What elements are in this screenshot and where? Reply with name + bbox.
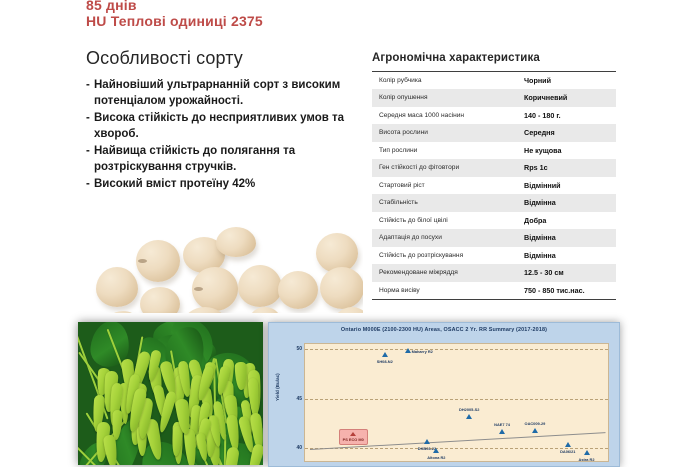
soybean-pods-image — [78, 322, 263, 465]
chart-data-point — [565, 442, 571, 447]
list-item: - Найвища стійкість до полягання та розт… — [86, 144, 366, 175]
table-cell-value: Добра — [524, 212, 616, 230]
chart-point-label: Altona R2 — [427, 455, 445, 460]
chart-point-label: Astra R2 — [579, 457, 595, 462]
table-row: Середня маса 1000 насінин140 - 180 г. — [372, 107, 616, 125]
seed-hilum — [194, 287, 203, 291]
chart-data-point — [382, 352, 388, 357]
highlight-label: PS ECO M0 — [343, 437, 364, 442]
chart-gridline — [305, 399, 608, 400]
table-row: Колір рубчикаЧорний — [372, 72, 616, 90]
chart-data-point — [584, 450, 590, 455]
list-item-text: Високий вміст протеїну 42% — [94, 177, 366, 193]
table-cell-name: Норма висіву — [372, 282, 524, 300]
highlight-triangle-icon — [350, 432, 356, 436]
soybean-seed — [216, 227, 256, 257]
agronomic-table-section: Агрономічна характеристика Колір рубчика… — [372, 52, 616, 300]
list-item-text: Висока стійкість до несприятливих умов т… — [94, 111, 366, 142]
chart-title: Ontario M000E (2100-2300 HU) Areas, OSAC… — [269, 327, 619, 333]
header-block: 85 днів HU Теплові одиниці 2375 — [86, 0, 506, 29]
soybean-seed — [96, 267, 138, 307]
table-row: Колір опушенняКоричневий — [372, 89, 616, 107]
chart-point-label: OAC009-29 — [525, 421, 546, 426]
table-row: Ген стійкості до фітовториRps 1с — [372, 159, 616, 177]
features-section: Особливості сорту - Найновіший ультрарна… — [86, 48, 366, 195]
chart-data-point — [433, 448, 439, 453]
table-row: СтабільністьВідмінна — [372, 194, 616, 212]
table-cell-value: 140 - 180 г. — [524, 107, 616, 125]
features-list: - Найновіший ультрарнанній сорт з високи… — [86, 78, 366, 193]
table-cell-value: Відмінний — [524, 177, 616, 195]
chart-y-tick: 40 — [284, 445, 302, 451]
table-cell-value: Відмінна — [524, 247, 616, 265]
table-cell-name: Колір рубчика — [372, 72, 524, 90]
table-cell-value: Не кущова — [524, 142, 616, 160]
yield-chart: Ontario M000E (2100-2300 HU) Areas, OSAC… — [268, 322, 620, 467]
table-cell-name: Тип рослини — [372, 142, 524, 160]
table-cell-name: Стійкість до розтріскування — [372, 247, 524, 265]
soybean-seed — [320, 267, 363, 309]
chart-data-point — [532, 428, 538, 433]
list-item: - Високий вміст протеїну 42% — [86, 177, 366, 193]
table-row: Стійкість до білої цвіліДобра — [372, 212, 616, 230]
chart-y-tick: 50 — [284, 346, 302, 352]
soybean-seed — [238, 265, 282, 307]
slide-root: 85 днів HU Теплові одиниці 2375 Особливо… — [0, 0, 700, 465]
table-row: Норма висіву750 - 850 тис.нас. — [372, 282, 616, 300]
header-heat-units: HU Теплові одиниці 2375 — [86, 13, 506, 29]
bullet-dash: - — [86, 177, 94, 193]
chart-gridline — [305, 349, 608, 350]
seed-hilum — [138, 259, 147, 263]
list-item: - Найновіший ультрарнанній сорт з високи… — [86, 78, 366, 109]
table-cell-value: Середня — [524, 124, 616, 142]
table-row: Стартовий рістВідмінний — [372, 177, 616, 195]
chart-y-axis-label: Yield (Bu/ac) — [275, 373, 280, 401]
agronomic-table: Колір рубчикаЧорнийКолір опушенняКоричне… — [372, 71, 616, 300]
soybean-seed — [140, 287, 180, 313]
table-cell-name: Стійкість до білої цвілі — [372, 212, 524, 230]
chart-data-point — [424, 439, 430, 444]
chart-point-label: SH08-N2 — [377, 359, 393, 364]
header-days: 85 днів — [86, 0, 506, 13]
chart-data-point — [466, 414, 472, 419]
table-cell-name: Адаптація до посухи — [372, 229, 524, 247]
table-cell-name: Стабільність — [372, 194, 524, 212]
table-cell-name: Рекомендоване міжряддя — [372, 264, 524, 282]
soybean-seed — [278, 271, 318, 309]
bullet-dash: - — [86, 144, 94, 175]
table-cell-value: Відмінна — [524, 194, 616, 212]
table-row: Тип рослиниНе кущова — [372, 142, 616, 160]
table-row: Адаптація до посухиВідмінна — [372, 229, 616, 247]
table-cell-name: Стартовий ріст — [372, 177, 524, 195]
table-cell-value: Коричневий — [524, 89, 616, 107]
agronomic-table-title: Агрономічна характеристика — [372, 52, 616, 64]
table-cell-name: Колір опушення — [372, 89, 524, 107]
table-cell-value: 12.5 - 30 см — [524, 264, 616, 282]
table-cell-name: Середня маса 1000 насінин — [372, 107, 524, 125]
table-row: Рекомендоване міжряддя12.5 - 30 см — [372, 264, 616, 282]
chart-data-point — [499, 429, 505, 434]
chart-point-label: NAE7 74 — [494, 422, 510, 427]
chart-plot-area: 504540SH08-N2Maharry R2DH2005-S2DKB03-22… — [304, 343, 609, 462]
chart-point-label: Maharry R2 — [412, 349, 433, 354]
table-cell-value: 750 - 850 тис.нас. — [524, 282, 616, 300]
soybean-seed — [104, 311, 142, 313]
table-cell-name: Висота рослини — [372, 124, 524, 142]
list-item: - Висока стійкість до несприятливих умов… — [86, 111, 366, 142]
chart-y-tick: 45 — [284, 396, 302, 402]
chart-highlight-marker: PS ECO M0 — [339, 429, 368, 445]
list-item-text: Найвища стійкість до полягання та розтрі… — [94, 144, 366, 175]
table-row: Стійкість до розтріскуванняВідмінна — [372, 247, 616, 265]
chart-point-label: DH2005-S2 — [459, 407, 479, 412]
soybean-seeds-image — [88, 215, 363, 313]
table-row: Висота рослиниСередня — [372, 124, 616, 142]
chart-point-label: DA06/21 — [560, 449, 575, 454]
table-cell-name: Ген стійкості до фітовтори — [372, 159, 524, 177]
bullet-dash: - — [86, 111, 94, 142]
list-item-text: Найновіший ультрарнанній сорт з високим … — [94, 78, 366, 109]
soybean-seed — [248, 307, 282, 313]
features-title: Особливості сорту — [86, 48, 366, 69]
chart-data-point — [405, 348, 411, 353]
bullet-dash: - — [86, 78, 94, 109]
table-cell-value: Відмінна — [524, 229, 616, 247]
table-cell-value: Чорний — [524, 72, 616, 90]
table-cell-value: Rps 1с — [524, 159, 616, 177]
